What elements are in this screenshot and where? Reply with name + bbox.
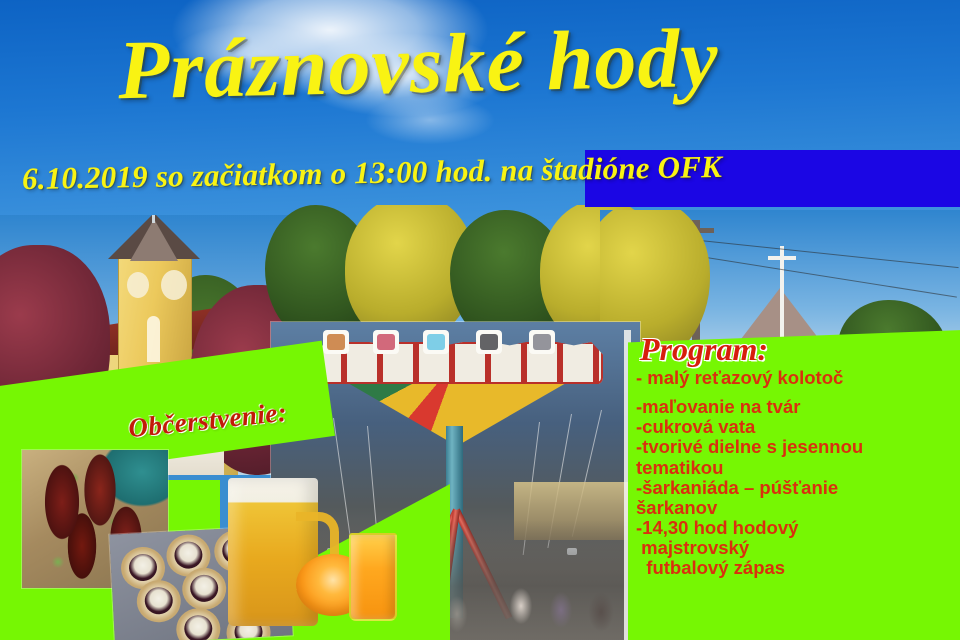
church-window: [147, 316, 160, 362]
mid-tree-line: [255, 205, 655, 340]
carousel-crown-art: [423, 330, 449, 354]
power-line: [700, 240, 959, 268]
poster-canvas: Občerstvenie: Program: - malý reťazový k…: [0, 0, 960, 640]
carousel-crown-art: [323, 330, 349, 354]
program-item: majstrovský: [636, 538, 960, 558]
carousel-crown-art: [529, 330, 555, 354]
kolac: [175, 607, 221, 640]
church-spire-inner: [130, 219, 178, 261]
program-item: futbalový zápas: [636, 558, 960, 578]
program-item: -šarkaniáda – púšťanie: [636, 478, 960, 498]
carousel-crown: [311, 342, 603, 384]
program-item: -maľovanie na tvár: [636, 397, 960, 417]
program-item: -cukrová vata: [636, 417, 960, 437]
kolac: [181, 567, 227, 611]
poster-title: Práznovské hody: [117, 10, 720, 120]
church-clock-face: [127, 272, 149, 298]
program-item: tematikou: [636, 458, 960, 478]
orange-juice-glass-photo: [349, 533, 397, 621]
program-heading: Program:: [640, 331, 768, 368]
kolac: [136, 579, 182, 623]
program-item: -14,30 hod hodový: [636, 518, 960, 538]
carousel-crown-art: [373, 330, 399, 354]
church-clock-face: [161, 270, 187, 300]
church-cross-icon: [152, 215, 155, 223]
program-item: šarkanov: [636, 498, 960, 518]
program-item: -tvorivé dielne s jesennou: [636, 437, 960, 457]
carousel-crown-art: [476, 330, 502, 354]
program-item: - malý reťazový kolotoč: [636, 368, 960, 388]
program-list: - malý reťazový kolotoč -maľovanie na tv…: [636, 368, 960, 579]
